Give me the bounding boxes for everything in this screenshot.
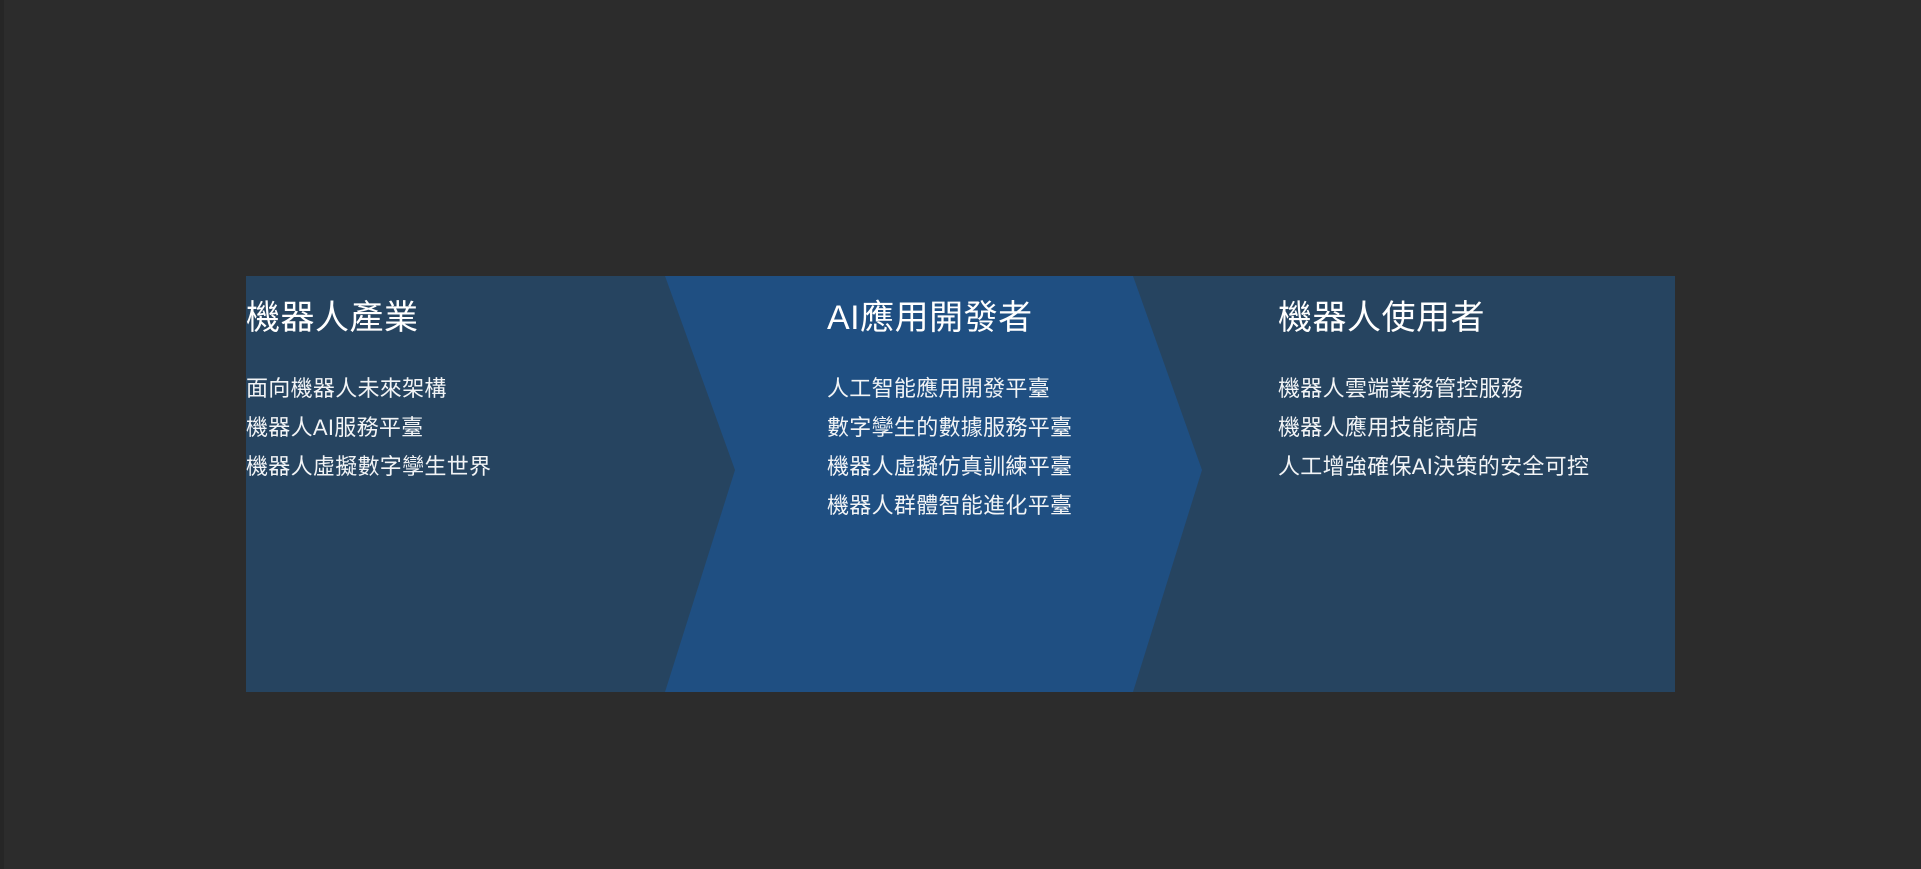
list-item: 機器人虛擬仿真訓練平臺 (827, 447, 1072, 486)
list-item: 機器人雲端業務管控服務 (1278, 369, 1589, 408)
left-edge-strip (0, 0, 4, 869)
list-item: 人工智能應用開發平臺 (827, 369, 1072, 408)
panel-list-ai-app-developer: 人工智能應用開發平臺 數字孿生的數據服務平臺 機器人虛擬仿真訓練平臺 機器人群體… (827, 369, 1072, 525)
panel-heading-robot-industry: 機器人產業 (246, 298, 419, 338)
panel-list-robot-industry: 面向機器人未來架構 機器人AI服務平臺 機器人虛擬數字孿生世界 (246, 369, 491, 486)
panel-list-robot-user: 機器人雲端業務管控服務 機器人應用技能商店 人工增強確保AI決策的安全可控 (1278, 369, 1589, 486)
list-item: 機器人虛擬數字孿生世界 (246, 447, 491, 486)
panel-robot-user[interactable]: 機器人使用者 機器人雲端業務管控服務 機器人應用技能商店 人工增強確保AI決策的… (1278, 276, 1675, 692)
list-item: 機器人應用技能商店 (1278, 408, 1589, 447)
list-item: 機器人AI服務平臺 (246, 408, 491, 447)
panel-robot-industry[interactable]: 機器人產業 面向機器人未來架構 機器人AI服務平臺 機器人虛擬數字孿生世界 (246, 276, 736, 692)
list-item: 面向機器人未來架構 (246, 369, 491, 408)
list-item: 數字孿生的數據服務平臺 (827, 408, 1072, 447)
chevron-banner: 機器人產業 面向機器人未來架構 機器人AI服務平臺 機器人虛擬數字孿生世界 AI… (246, 276, 1675, 692)
panel-heading-ai-app-developer: AI應用開發者 (827, 298, 1033, 338)
list-item: 機器人群體智能進化平臺 (827, 486, 1072, 525)
panel-heading-robot-user: 機器人使用者 (1278, 298, 1485, 338)
panel-ai-app-developer[interactable]: AI應用開發者 人工智能應用開發平臺 數字孿生的數據服務平臺 機器人虛擬仿真訓練… (827, 276, 1317, 692)
list-item: 人工增強確保AI決策的安全可控 (1278, 447, 1589, 486)
